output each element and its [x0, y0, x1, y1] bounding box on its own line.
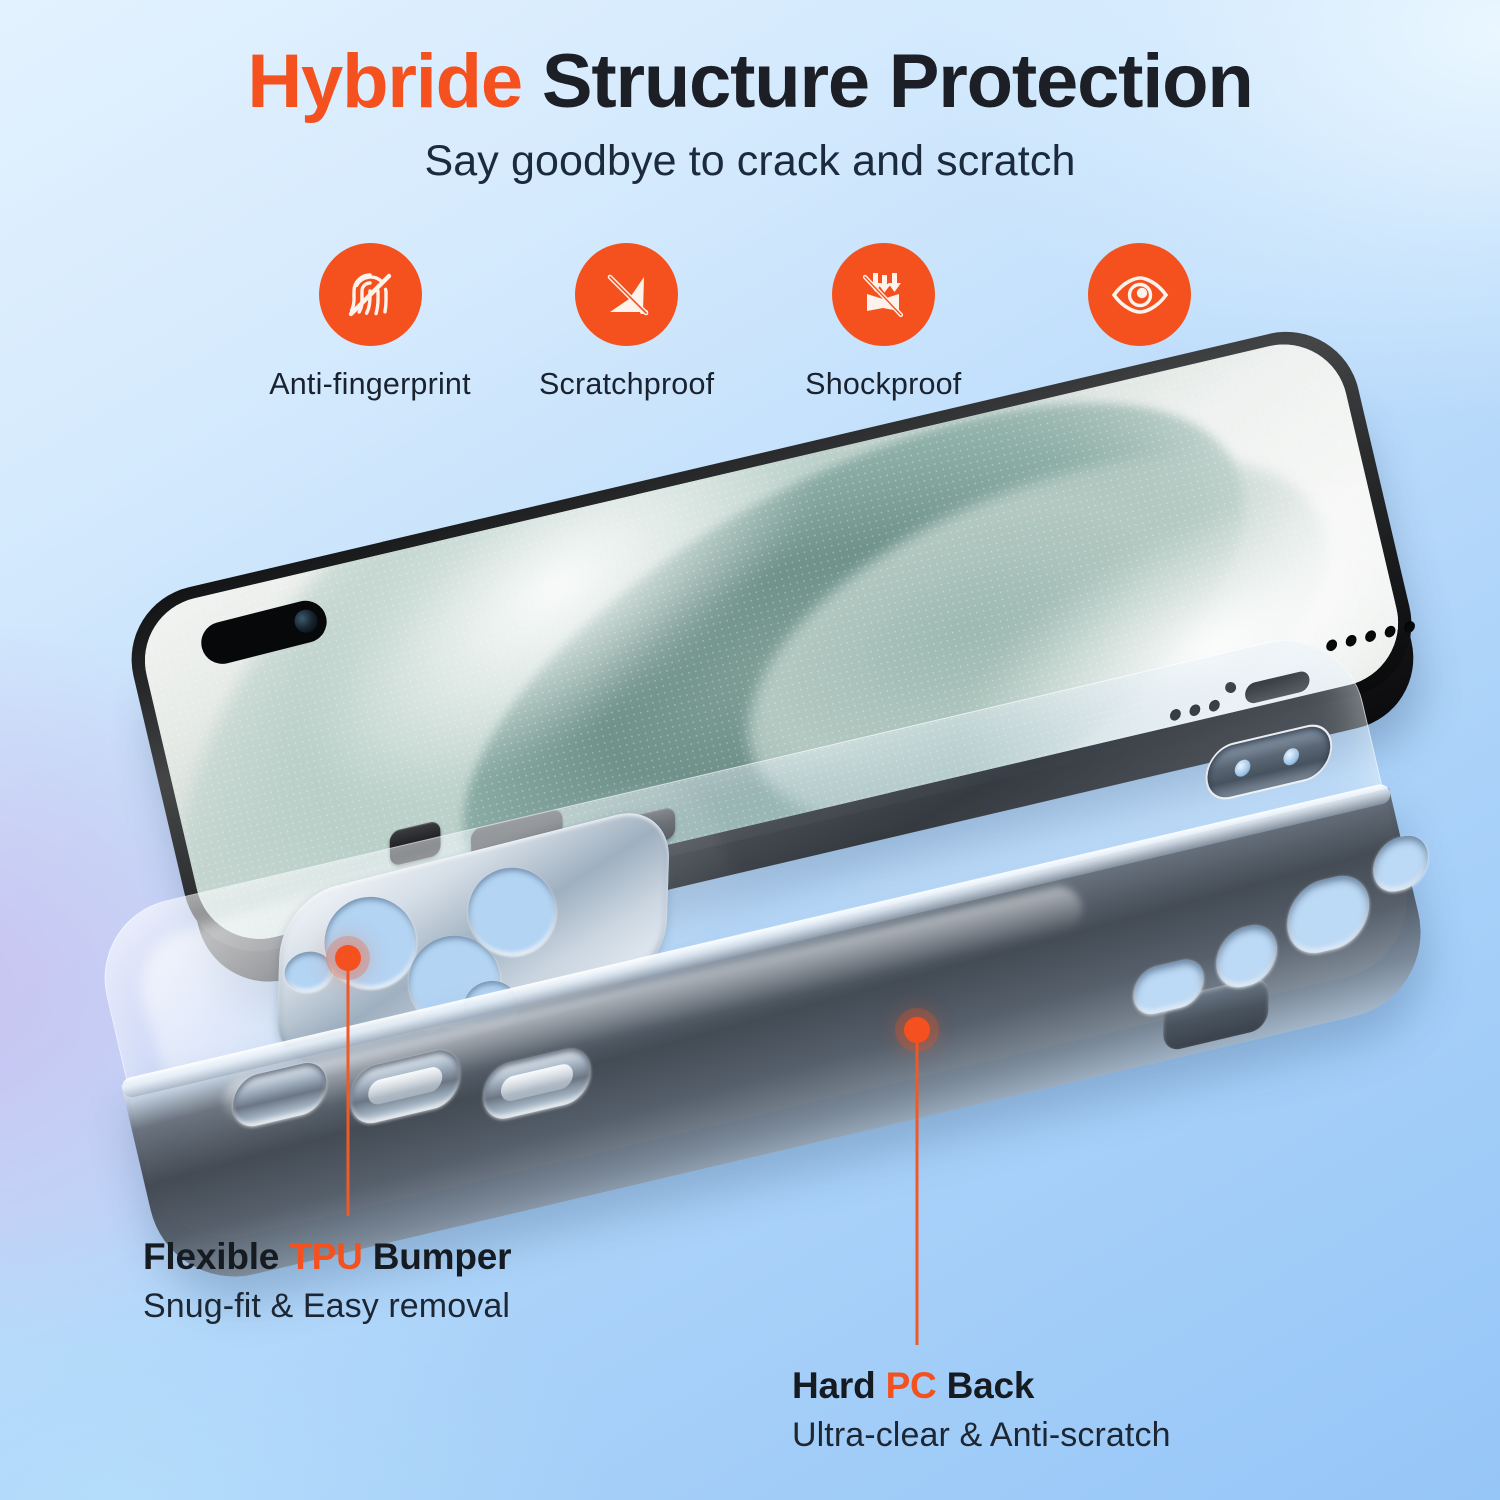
product-stage: Flexible TPU Bumper Snug-fit & Easy remo… [0, 0, 1500, 1500]
callout-leader-line-pc [916, 1030, 919, 1345]
callout-title-after: Back [937, 1365, 1035, 1406]
callout-title: Hard PC Back [792, 1365, 1171, 1407]
callout-title-before: Flexible [143, 1236, 289, 1277]
callout-tpu: Flexible TPU Bumper Snug-fit & Easy remo… [143, 1236, 511, 1326]
callout-title: Flexible TPU Bumper [143, 1236, 511, 1278]
callout-title-after: Bumper [363, 1236, 512, 1277]
callout-title-before: Hard [792, 1365, 886, 1406]
callout-pc: Hard PC Back Ultra-clear & Anti-scratch [792, 1365, 1171, 1455]
front-camera-icon [292, 607, 320, 635]
callout-subtitle: Snug-fit & Easy removal [143, 1287, 511, 1326]
callout-dot-pc [904, 1017, 930, 1043]
callout-subtitle: Ultra-clear & Anti-scratch [792, 1416, 1171, 1455]
callout-leader-line-tpu [347, 958, 350, 1216]
callout-title-highlight: TPU [289, 1236, 362, 1277]
callout-title-highlight: PC [886, 1365, 937, 1406]
callout-dot-tpu [335, 945, 361, 971]
